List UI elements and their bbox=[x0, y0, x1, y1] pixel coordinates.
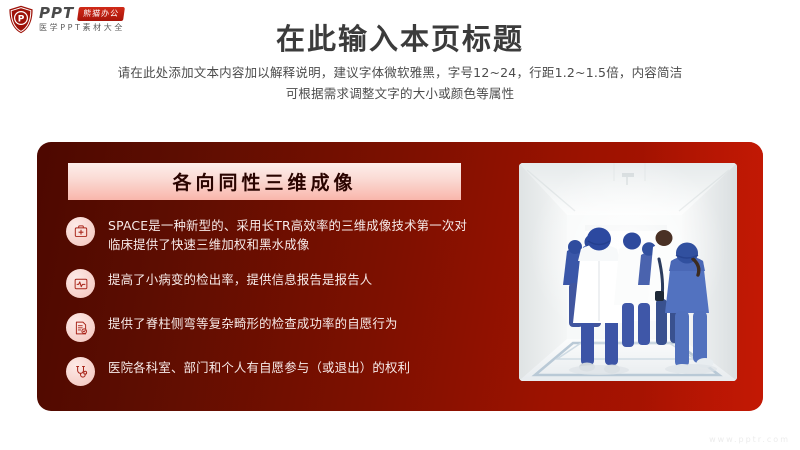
watermark: www.pptr.com bbox=[709, 435, 790, 444]
report-document-icon bbox=[66, 313, 95, 342]
heartbeat-monitor-icon bbox=[66, 269, 95, 298]
slide-canvas: P PPT 熊猫办公 医学PPT素材大全 在此输入本页标题 请在此处添加文本内容… bbox=[0, 0, 800, 450]
medical-kit-icon bbox=[66, 217, 95, 246]
feature-list: SPACE是一种新型的、采用长TR高效率的三维成像技术第一次对临床提供了快速三维… bbox=[66, 216, 476, 386]
list-item-label: 医院各科室、部门和个人有自愿参与（或退出）的权利 bbox=[108, 356, 410, 377]
section-banner: 各向同性三维成像 bbox=[68, 163, 461, 200]
page-title: 在此输入本页标题 bbox=[0, 16, 800, 58]
stethoscope-icon bbox=[66, 357, 95, 386]
list-item[interactable]: 医院各科室、部门和个人有自愿参与（或退出）的权利 bbox=[66, 356, 476, 386]
subtitle-line-1: 请在此处添加文本内容加以解释说明，建议字体微软雅黑，字号12~24，行距1.2~… bbox=[0, 62, 800, 83]
list-item-label: 提高了小病变的检出率，提供信息报告是报告人 bbox=[108, 268, 372, 289]
list-item[interactable]: SPACE是一种新型的、采用长TR高效率的三维成像技术第一次对临床提供了快速三维… bbox=[66, 216, 476, 254]
list-item[interactable]: 提高了小病变的检出率，提供信息报告是报告人 bbox=[66, 268, 476, 298]
list-item-label: SPACE是一种新型的、采用长TR高效率的三维成像技术第一次对临床提供了快速三维… bbox=[108, 216, 476, 254]
list-item-label: 提供了脊柱侧弯等复杂畸形的检查成功率的自愿行为 bbox=[108, 312, 398, 333]
subtitle-line-2: 可根据需求调整文字的大小或颜色等属性 bbox=[0, 83, 800, 104]
hospital-corridor-photo bbox=[519, 163, 737, 381]
list-item[interactable]: 提供了脊柱侧弯等复杂畸形的检查成功率的自愿行为 bbox=[66, 312, 476, 342]
page-subtitle: 请在此处添加文本内容加以解释说明，建议字体微软雅黑，字号12~24，行距1.2~… bbox=[0, 62, 800, 104]
section-banner-title: 各向同性三维成像 bbox=[172, 168, 356, 195]
